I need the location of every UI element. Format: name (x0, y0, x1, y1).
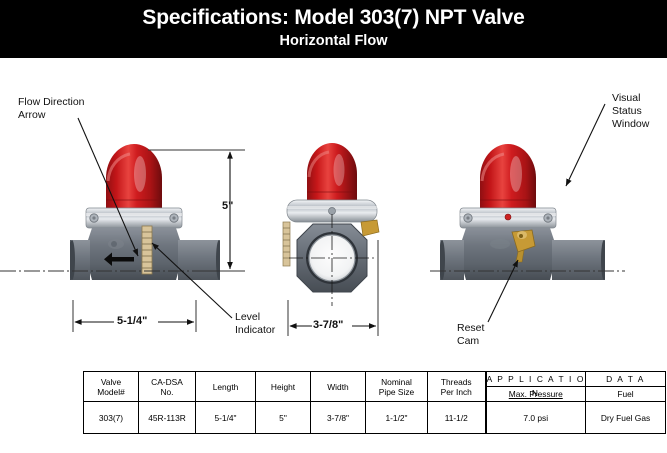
valve-side-view-left (70, 140, 220, 320)
header-max-pressure: Max. Pressure (487, 387, 586, 401)
valve-end-view-middle (275, 140, 400, 320)
cell-max-pressure: 7.0 psi (486, 402, 586, 434)
callout-level-indicator: Level Indicator (235, 311, 275, 337)
specification-sheet: Specifications: Model 303(7) NPT Valve H… (0, 0, 667, 453)
table-row: 303(7) 45R-113R 5-1/4" 5" 3-7/8" 1-1/2" … (84, 402, 666, 434)
visual-status-window-dot (505, 214, 511, 220)
cell-length: 5-1/4" (196, 402, 256, 434)
title-banner: Specifications: Model 303(7) NPT Valve H… (0, 0, 667, 58)
dimension-width-label: 3-7/8" (313, 319, 343, 331)
callout-flow-direction-arrow: Flow Direction Arrow (18, 96, 85, 122)
page-title: Specifications: Model 303(7) NPT Valve (0, 6, 667, 30)
header-application-group: A P P L I C A T I O N (487, 372, 586, 387)
header-valve-model-l1: Valve (84, 377, 138, 387)
cell-width: 3-7/8" (311, 402, 366, 434)
header-length: Length (196, 372, 256, 402)
cell-threads-per-inch: 11-1/2 (428, 402, 486, 434)
cell-fuel: Dry Fuel Gas (586, 402, 666, 434)
page-subtitle: Horizontal Flow (0, 33, 667, 49)
header-threads-l2: Per Inch (428, 387, 485, 397)
table-header-row: Valve Model# CA-DSA No. Length Height Wi… (84, 372, 666, 402)
cell-nominal-pipe-size: 1-1/2" (366, 402, 428, 434)
specification-table: Valve Model# CA-DSA No. Length Height Wi… (83, 371, 666, 434)
header-threads-l1: Threads (428, 377, 485, 387)
header-application-group-cell: A P P L I C A T I O N Max. Pressure (486, 372, 586, 402)
header-width: Width (311, 372, 366, 402)
valve-side-view-right (440, 140, 605, 320)
header-ca-dsa-no: CA-DSA No. (139, 372, 196, 402)
cell-height: 5" (256, 402, 311, 434)
cell-ca-dsa-no: 45R-113R (139, 402, 196, 434)
header-valve-model-l2: Model# (84, 387, 138, 397)
header-valve-model: Valve Model# (84, 372, 139, 402)
header-ca-dsa-l2: No. (139, 387, 195, 397)
header-fuel: Fuel (586, 387, 665, 401)
header-data-group-cell: D A T A Fuel (586, 372, 666, 402)
callout-visual-status-window: Visual Status Window (612, 92, 649, 131)
header-data-group: D A T A (586, 372, 665, 387)
callout-reset-cam: Reset Cam (457, 322, 484, 348)
header-threads-per-inch: Threads Per Inch (428, 372, 486, 402)
header-height: Height (256, 372, 311, 402)
header-nominal-l1: Nominal (366, 377, 427, 387)
header-nominal-l2: Pipe Size (366, 387, 427, 397)
header-ca-dsa-l1: CA-DSA (139, 377, 195, 387)
cell-valve-model: 303(7) (84, 402, 139, 434)
dimension-height-label: 5" (222, 200, 233, 212)
header-nominal-pipe-size: Nominal Pipe Size (366, 372, 428, 402)
dimension-length-label: 5-1/4" (117, 315, 147, 327)
